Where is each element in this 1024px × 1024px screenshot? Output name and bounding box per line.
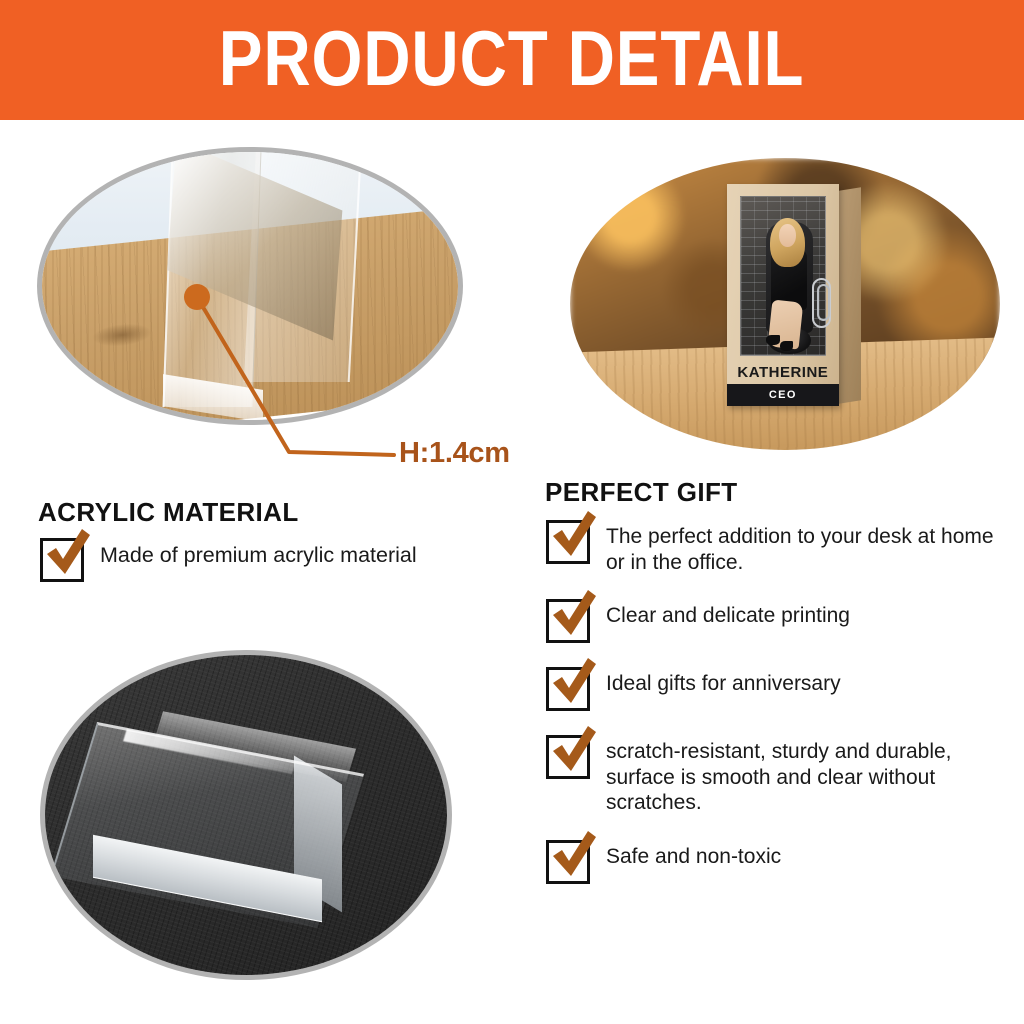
package-side-panel [839,187,861,404]
list-item: Made of premium acrylic material [40,538,520,582]
checkbox-checked-icon [546,599,590,643]
figurine-face [779,224,796,247]
checkmark-icon [545,655,599,709]
boxed-figurine-photo: KATHERINE CEO [570,158,1000,450]
list-item-text: Ideal gifts for anniversary [606,667,841,697]
list-item-text: The perfect addition to your desk at hom… [606,520,1008,575]
callout-label: H:1.4cm [399,437,510,470]
package-name-label: KATHERINE [727,364,839,381]
checkbox-checked-icon [546,667,590,711]
checkmark-icon [545,723,599,777]
page-title: PRODUCT DETAIL [219,19,805,97]
bullet-list-acrylic-material: Made of premium acrylic material [40,538,520,600]
checkbox-checked-icon [546,735,590,779]
checkmark-icon [545,828,599,882]
list-item: Clear and delicate printing [546,599,1008,643]
list-item-text: Made of premium acrylic material [100,538,417,568]
checkmark-icon [545,508,599,562]
list-item-text: scratch-resistant, sturdy and durable, s… [606,735,1008,816]
product-detail-page: PRODUCT DETAIL [0,0,1024,1024]
list-item-text: Safe and non-toxic [606,840,781,870]
list-item: The perfect addition to your desk at hom… [546,520,1008,575]
checkbox-checked-icon [546,840,590,884]
paperclip-icon [812,278,831,329]
figurine-shoe-right [780,341,793,352]
acrylic-block-photo [45,655,447,975]
section-heading-acrylic-material: ACRYLIC MATERIAL [38,497,299,528]
checkmark-icon [39,526,93,580]
figurine-shoe-left [766,335,780,346]
list-item: Ideal gifts for anniversary [546,667,1008,711]
checkbox-checked-icon [40,538,84,582]
acrylic-edge-photo [42,152,458,420]
list-item: scratch-resistant, sturdy and durable, s… [546,735,1008,816]
bullet-list-perfect-gift: The perfect addition to your desk at hom… [546,520,1008,908]
list-item: Safe and non-toxic [546,840,1008,884]
section-heading-perfect-gift: PERFECT GIFT [545,477,738,508]
package-role-band: CEO [727,384,839,406]
checkmark-icon [545,587,599,641]
list-item-text: Clear and delicate printing [606,599,850,629]
header-banner: PRODUCT DETAIL [0,0,1024,120]
checkbox-checked-icon [546,520,590,564]
package-role-label: CEO [769,389,797,401]
